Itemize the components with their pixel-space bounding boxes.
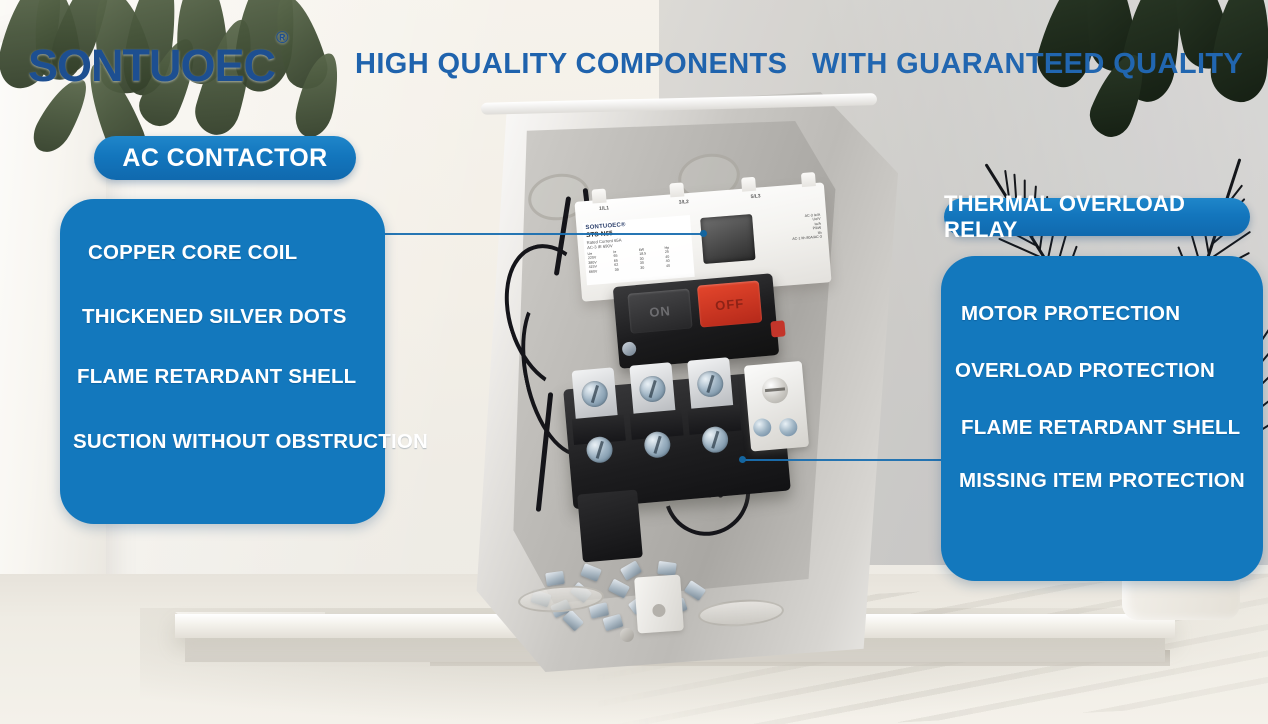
contactor-coil-window	[700, 214, 755, 264]
relay-terminal	[683, 357, 746, 491]
contactor-terminal-mark: 1/L1	[599, 205, 609, 212]
thermal-overload-relay-module	[563, 371, 791, 510]
contactor-nameplate: SONTUOEC® STS-N65 Rated Current 65A AC-3…	[582, 215, 695, 285]
off-button[interactable]: OFF	[697, 280, 762, 327]
contactor-fin	[801, 172, 816, 187]
contactor-nameplate-notes: AC-3 Ie/AUe/VIe/AP/kWIthAC-1 Ith 80A/AC-…	[758, 213, 822, 244]
feature-item: MISSING ITEM PROTECTION	[959, 469, 1245, 493]
on-off-switch-block[interactable]: ON OFF	[613, 273, 780, 369]
feature-panel-left: COPPER CORE COIL THICKENED SILVER DOTS F…	[60, 199, 385, 524]
callout-anchor-dot-right	[739, 456, 746, 463]
enclosure-latch-bracket	[634, 574, 684, 633]
terminal-screw	[779, 417, 799, 437]
registered-trademark-icon: ®	[276, 28, 288, 47]
switch-reset-nub[interactable]	[770, 320, 785, 337]
nameplate-cell: 40	[666, 262, 691, 268]
nameplate-cell: 39	[614, 266, 639, 272]
feature-item: COPPER CORE COIL	[88, 241, 297, 265]
feature-item: SUCTION WITHOUT OBSTRUCTION	[73, 430, 428, 454]
banner-canvas: 1/L1 3/L2 5/L3 SONTUOEC® STS-N65 Rated C…	[0, 0, 1268, 724]
callout-leader-line-right	[742, 459, 952, 461]
feature-item: THICKENED SILVER DOTS	[82, 305, 347, 329]
feature-item: FLAME RETARDANT SHELL	[961, 416, 1240, 440]
nameplate-cell: 660V	[589, 268, 614, 274]
brand-logo: SONTUOEC®	[28, 40, 287, 92]
feature-item: OVERLOAD PROTECTION	[955, 359, 1215, 383]
contactor-fin	[592, 188, 607, 203]
brand-logo-text: SONTUOEC	[28, 40, 275, 91]
feature-item: MOTOR PROTECTION	[961, 302, 1180, 326]
terminal-screw	[752, 418, 772, 438]
feature-item: FLAME RETARDANT SHELL	[77, 365, 356, 389]
callout-anchor-dot-left	[700, 230, 707, 237]
badge-thermal-overload-relay: THERMAL OVERLOAD RELAY	[944, 198, 1250, 236]
relay-terminal	[625, 362, 688, 496]
contactor-fin	[669, 182, 684, 197]
contactor-terminal-mark: 5/L3	[750, 193, 760, 200]
badge-ac-contactor: AC CONTACTOR	[94, 136, 356, 180]
switch-mounting-screw	[622, 341, 637, 356]
contactor-fin	[741, 177, 756, 192]
callout-leader-line-left	[384, 233, 704, 235]
on-button[interactable]: ON	[627, 288, 692, 333]
relay-adjust-screw[interactable]	[761, 376, 789, 404]
relay-reset-arm[interactable]	[744, 361, 809, 452]
relay-terminal	[568, 367, 631, 501]
tagline-right: WITH GUARANTEED QUALITY	[812, 48, 1243, 81]
contactor-terminal-mark: 3/L2	[679, 199, 689, 206]
nameplate-cell: 30	[640, 264, 665, 270]
feature-panel-right: MOTOR PROTECTION OVERLOAD PROTECTION FLA…	[941, 256, 1263, 581]
product-photo: 1/L1 3/L2 5/L3 SONTUOEC® STS-N65 Rated C…	[468, 92, 898, 672]
tagline-left: HIGH QUALITY COMPONENTS	[355, 48, 787, 81]
